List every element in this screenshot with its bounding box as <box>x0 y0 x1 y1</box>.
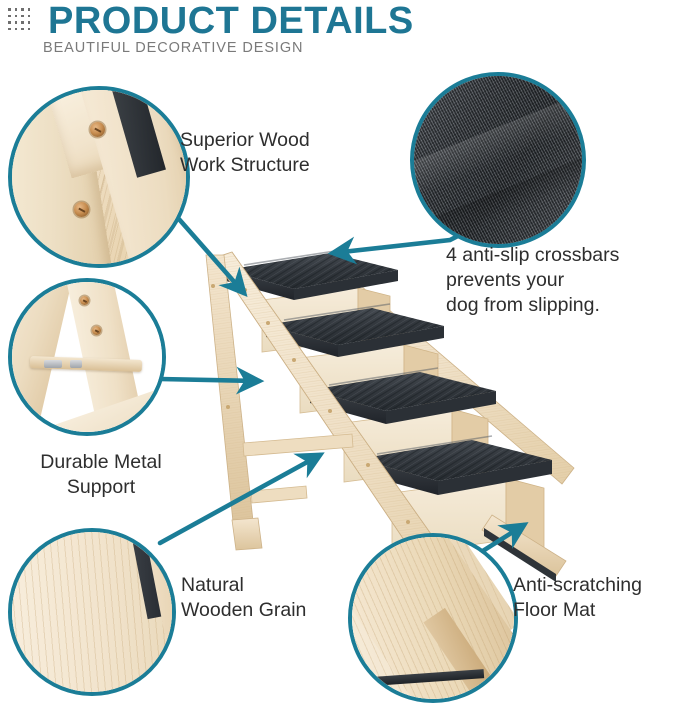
callout-anti-scratching-floor-mat <box>348 533 518 703</box>
label-anti-slip-crossbars: 4 anti-slip crossbars prevents your dog … <box>446 243 661 318</box>
callout-image-wood-joint <box>12 90 186 264</box>
callout-anti-slip-crossbars <box>410 72 586 248</box>
callout-durable-metal-support <box>8 278 166 436</box>
label-durable-metal-support: Durable Metal Support <box>6 450 196 500</box>
callout-image-carpet-texture <box>414 76 582 244</box>
callout-natural-wooden-grain <box>8 528 176 696</box>
screw-icon-upper <box>80 296 89 305</box>
callout-image-foot-pad <box>352 537 514 699</box>
label-natural-wooden-grain: Natural Wooden Grain <box>181 573 361 623</box>
arrow-metal-support <box>160 379 259 381</box>
callout-image-metal-brace <box>12 282 162 432</box>
screw-icon-lower <box>92 326 101 335</box>
product-left-foot <box>232 518 262 550</box>
callout-image-wood-grain <box>12 532 172 692</box>
callout-superior-wood-work-structure <box>8 86 190 268</box>
label-superior-wood-work-structure: Superior Wood Work Structure <box>180 128 380 178</box>
label-anti-scratching-floor-mat: Anti-scratching Floor Mat <box>513 573 679 623</box>
screw-icon-bottom <box>74 202 89 217</box>
screw-icon-top <box>90 122 105 137</box>
infographic-canvas: PRODUCT DETAILS BEAUTIFUL DECORATIVE DES… <box>0 0 679 687</box>
